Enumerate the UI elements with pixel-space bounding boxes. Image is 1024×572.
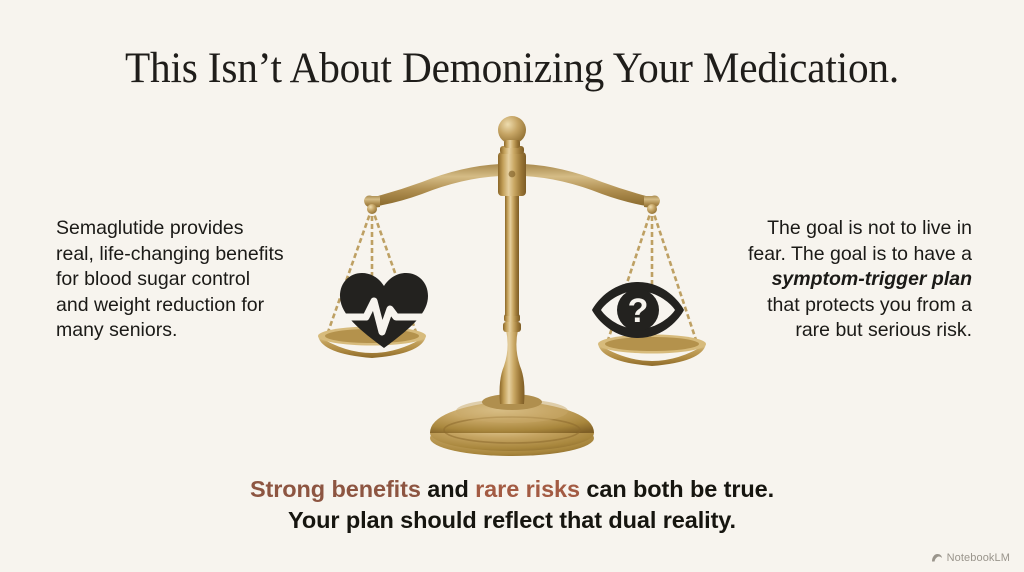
notebooklm-watermark: NotebookLM xyxy=(931,552,1010,564)
scale-finial xyxy=(498,116,526,148)
bottom-caption: Strong benefits and rare risks can both … xyxy=(0,474,1024,536)
right-goal-text: The goal is not to live in fear. The goa… xyxy=(744,216,972,344)
balance-scale-svg xyxy=(272,108,752,458)
scale-column xyxy=(500,182,525,404)
right-text-after: that protects you from a rare but seriou… xyxy=(767,294,972,342)
caption-risk-phrase: rare risks xyxy=(475,476,580,502)
left-pan-assembly xyxy=(318,204,426,358)
right-pan-assembly xyxy=(598,204,706,366)
page-title: This Isn’t About Demonizing Your Medicat… xyxy=(20,44,1003,93)
caption-benefit-phrase: Strong benefits xyxy=(250,476,421,502)
notebooklm-spark-icon xyxy=(931,552,943,564)
left-benefit-text: Semaglutide provides real, life-changing… xyxy=(56,216,284,344)
caption-line-2: Your plan should reflect that dual reali… xyxy=(0,505,1024,536)
notebooklm-label: NotebookLM xyxy=(947,552,1010,564)
right-text-emphasis: symptom-trigger plan xyxy=(772,268,972,290)
slide-canvas: This Isn’t About Demonizing Your Medicat… xyxy=(0,0,1024,572)
right-text-before: The goal is not to live in fear. The goa… xyxy=(748,217,972,265)
caption-line-1: Strong benefits and rare risks can both … xyxy=(0,474,1024,505)
balance-scale-illustration: ? xyxy=(272,108,752,458)
caption-middle-1: and xyxy=(421,476,475,502)
caption-middle-2: can both be true. xyxy=(580,476,774,502)
